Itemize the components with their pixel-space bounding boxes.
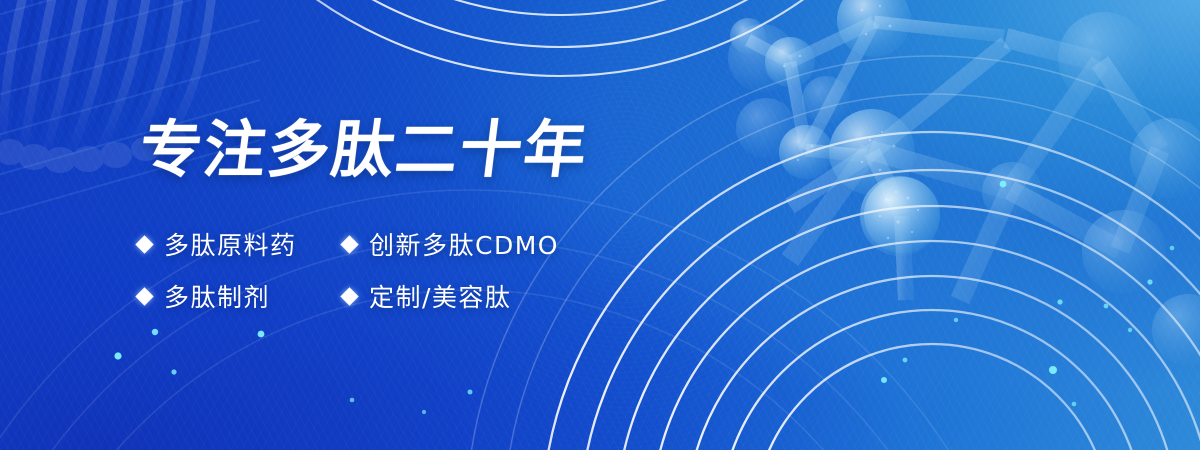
feature-label: 多肽制剂: [164, 278, 270, 314]
page-title: 专注多肽二十年: [136, 118, 592, 181]
bottom-concentric-arcs: [542, 132, 1200, 450]
feature-list: 多肽原料药 创新多肽CDMO 多肽制剂 定制/美容肽: [138, 218, 559, 322]
diamond-bullet-icon: [135, 235, 153, 253]
headline-block: 专注多肽二十年: [140, 118, 588, 181]
top-arc-lines: [136, 0, 984, 76]
diamond-bullet-icon: [135, 287, 153, 305]
diamond-bullet-icon: [340, 235, 358, 253]
feature-item-peptide-api[interactable]: 多肽原料药: [138, 226, 343, 262]
feature-item-innovative-peptide-cdmo[interactable]: 创新多肽CDMO: [343, 226, 559, 262]
feature-label: 创新多肽CDMO: [369, 226, 559, 262]
peptide-hero-banner: 专注多肽二十年 多肽原料药 创新多肽CDMO 多肽制剂 定制/美容肽: [0, 0, 1200, 450]
diamond-bullet-icon: [340, 287, 358, 305]
feature-label: 多肽原料药: [164, 226, 297, 262]
feature-label: 定制/美容肽: [369, 278, 511, 314]
feature-item-custom-cosmetic-peptide[interactable]: 定制/美容肽: [343, 278, 559, 314]
feature-item-peptide-formulation[interactable]: 多肽制剂: [138, 278, 343, 314]
